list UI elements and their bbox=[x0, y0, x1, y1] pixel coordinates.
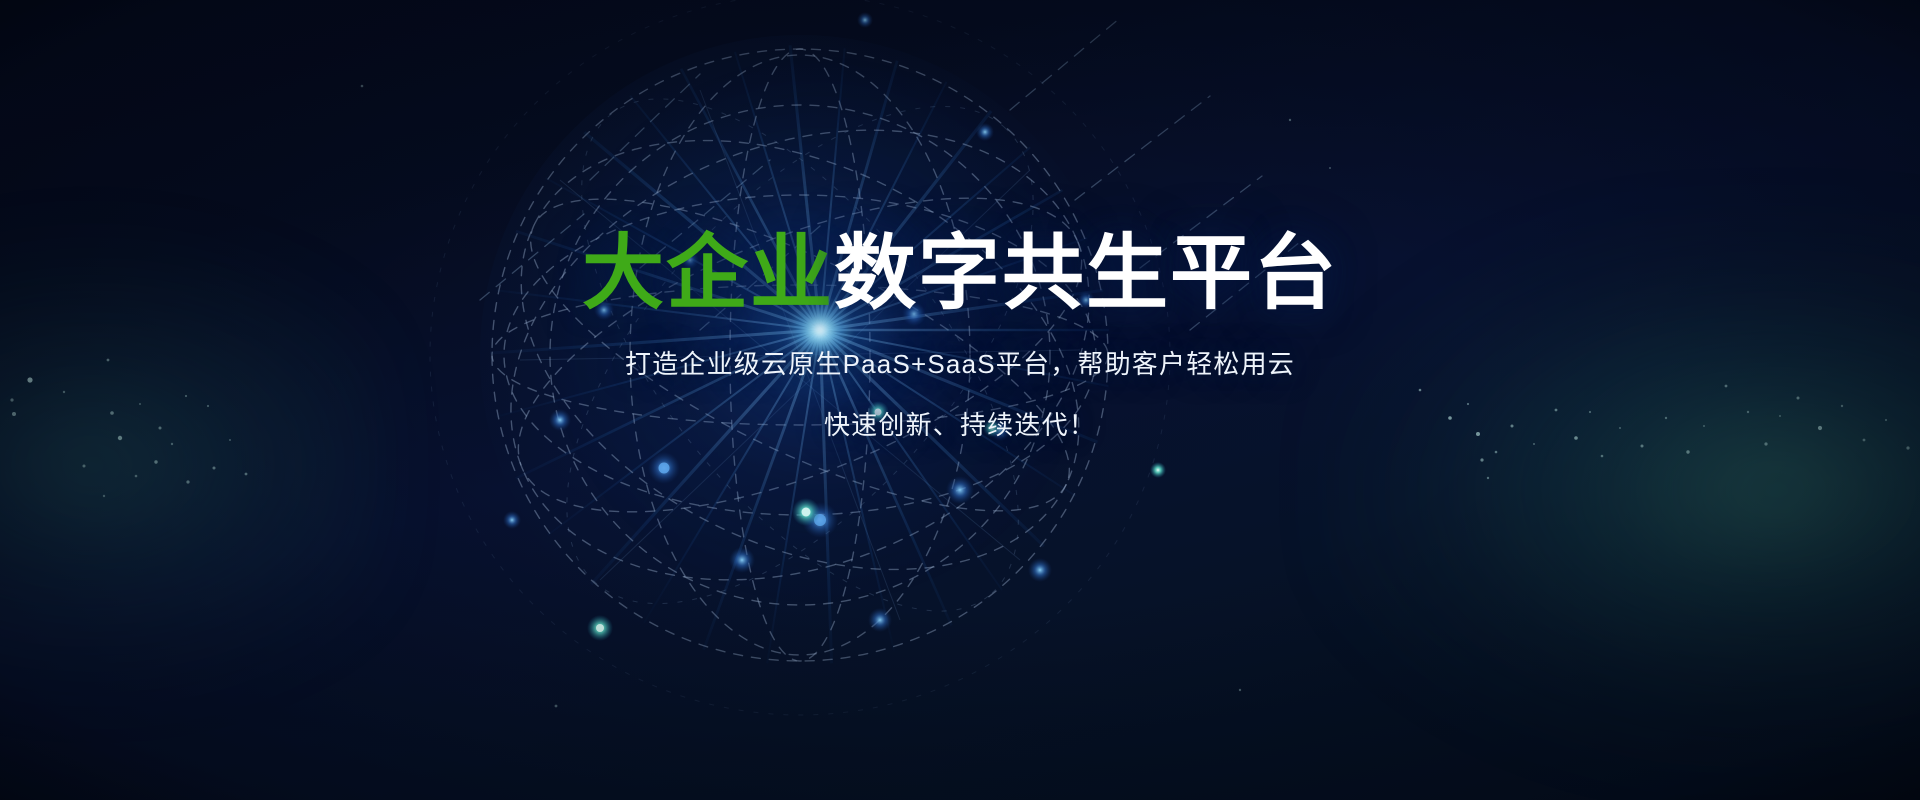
hero-copy: 大企业数字共生平台 打造企业级云原生PaaS+SaaS平台，帮助客户轻松用云 快… bbox=[0, 232, 1920, 438]
hero-banner: 大企业数字共生平台 打造企业级云原生PaaS+SaaS平台，帮助客户轻松用云 快… bbox=[0, 0, 1920, 800]
subtitle-line-1: 打造企业级云原生PaaS+SaaS平台，帮助客户轻松用云 bbox=[0, 351, 1920, 377]
title-rest: 数字共生平台 bbox=[834, 228, 1338, 319]
title-highlight: 大企业 bbox=[582, 228, 834, 319]
subtitle-line-2: 快速创新、持续迭代！ bbox=[0, 412, 1920, 438]
page-title: 大企业数字共生平台 bbox=[0, 232, 1920, 316]
